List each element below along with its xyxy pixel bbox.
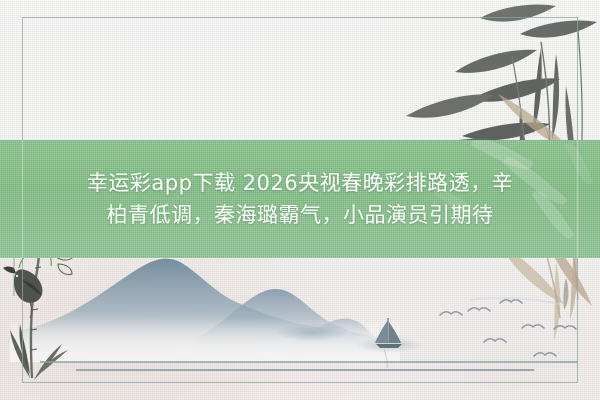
banner-title-line-1: 幸运彩app下载 2026央视春晚彩排路透，辛 bbox=[87, 170, 513, 196]
title-banner-band: 幸运彩app下载 2026央视春晚彩排路透，辛 柏青低调，秦海璐霸气，小品演员引… bbox=[0, 140, 600, 258]
banner-title-line-2: 柏青低调，秦海璐霸气，小品演员引期待 bbox=[107, 202, 494, 228]
banner-title: 幸运彩app下载 2026央视春晚彩排路透，辛 柏青低调，秦海璐霸气，小品演员引… bbox=[0, 140, 600, 258]
banner-image: 幸运彩app下载 2026央视春晚彩排路透，辛 柏青低调，秦海璐霸气，小品演员引… bbox=[0, 0, 600, 400]
